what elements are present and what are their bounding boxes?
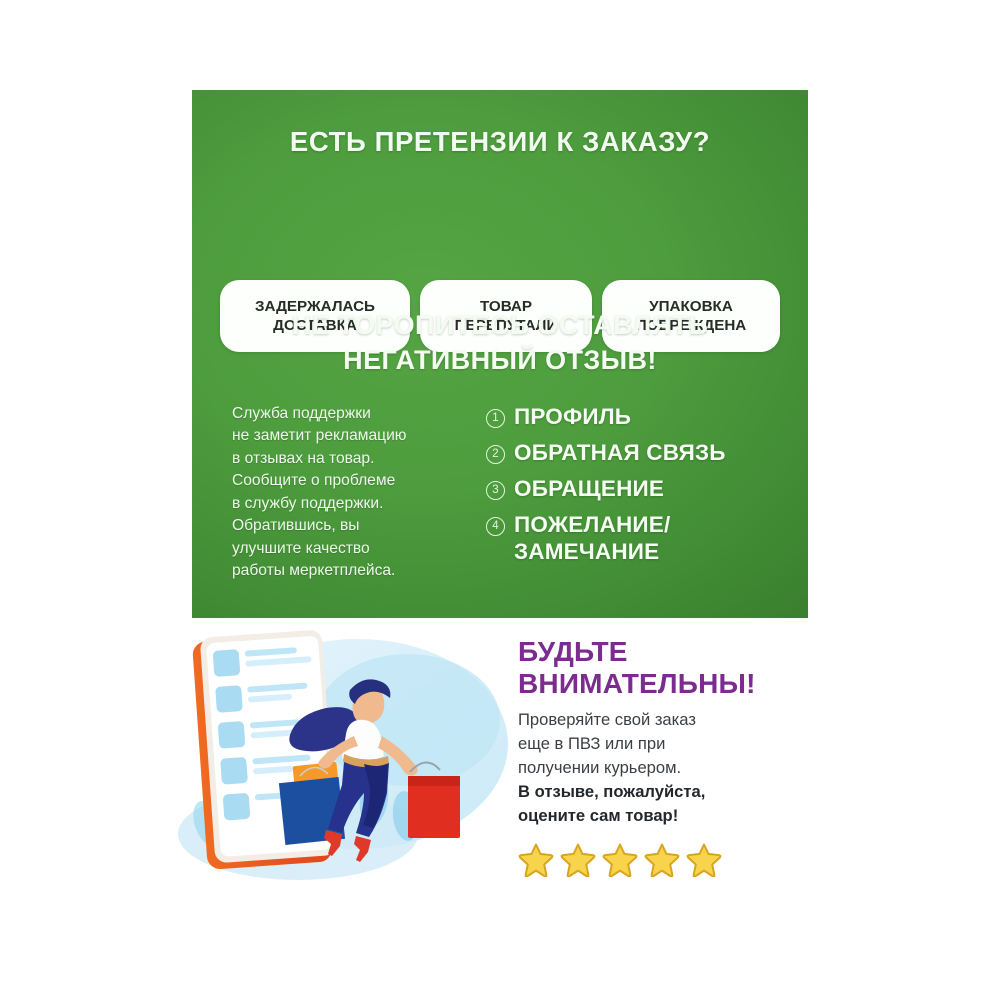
step-label-profile: ПРОФИЛЬ [514, 404, 631, 431]
attention-title: БУДЬТЕ ВНИМАТЕЛЬНЫ! [518, 636, 818, 699]
claims-green-panel: ЕСТЬ ПРЕТЕНЗИИ К ЗАКАЗУ? ЗАДЕРЖАЛАСЬ ДОС… [192, 90, 808, 618]
star-icon-1[interactable] [518, 841, 554, 877]
star-icon-3[interactable] [602, 841, 638, 877]
attention-body-line2: еще в ПВЗ или при [518, 732, 818, 756]
poster-canvas: ЕСТЬ ПРЕТЕНЗИИ К ЗАКАЗУ? ЗАДЕРЖАЛАСЬ ДОС… [0, 0, 1000, 1000]
support-paragraph-line8: работы меркетплейса. [232, 560, 467, 582]
attention-block: БУДЬТЕ ВНИМАТЕЛЬНЫ! Проверяйте свой зака… [518, 636, 818, 877]
support-paragraph-line3: в отзывах на товар. [232, 448, 467, 470]
attention-body-line1: Проверяйте свой заказ [518, 708, 818, 732]
step-label-profile-line1: ПРОФИЛЬ [514, 404, 631, 431]
steps-list: 1 ПРОФИЛЬ 2 ОБРАТНАЯ СВЯЗЬ 3 ОБРАЩЕНИЕ [486, 403, 726, 575]
step-item-feedback: 2 ОБРАТНАЯ СВЯЗЬ [486, 440, 726, 467]
support-paragraph: Служба поддержки не заметит рекламацию в… [232, 403, 467, 583]
panel-subheading: НЕ ТОРОПИТЕСЬ ОСТАВЛЯТЬ НЕГАТИВНЫЙ ОТЗЫВ… [192, 308, 808, 377]
support-paragraph-line2: не заметит рекламацию [232, 425, 467, 447]
woman-shopping-with-phone-illustration [178, 624, 518, 892]
step-label-request: ОБРАЩЕНИЕ [514, 476, 664, 503]
star-rating[interactable] [518, 841, 818, 877]
bottom-section: БУДЬТЕ ВНИМАТЕЛЬНЫ! Проверяйте свой зака… [0, 624, 1000, 904]
step-number-2-icon: 2 [486, 445, 505, 464]
step-label-suggestion-line2: ЗАМЕЧАНИЕ [514, 539, 670, 566]
step-number-4-icon: 4 [486, 517, 505, 536]
step-label-suggestion: ПОЖЕЛАНИЕ/ ЗАМЕЧАНИЕ [514, 512, 670, 565]
support-paragraph-line4: Сообщите о проблеме [232, 470, 467, 492]
attention-body-line4: В отзыве, пожалуйста, [518, 780, 818, 804]
star-icon-4[interactable] [644, 841, 680, 877]
support-paragraph-line5: в службу поддержки. [232, 493, 467, 515]
panel-title: ЕСТЬ ПРЕТЕНЗИИ К ЗАКАЗУ? [192, 126, 808, 158]
support-paragraph-line6: Обратившись, вы [232, 515, 467, 537]
step-label-feedback-line1: ОБРАТНАЯ СВЯЗЬ [514, 440, 726, 467]
step-label-feedback: ОБРАТНАЯ СВЯЗЬ [514, 440, 726, 467]
attention-body-line5: оцените сам товар! [518, 804, 818, 828]
panel-subheading-line1: НЕ ТОРОПИТЕСЬ ОСТАВЛЯТЬ [192, 308, 808, 343]
step-label-suggestion-line1: ПОЖЕЛАНИЕ/ [514, 512, 670, 539]
star-icon-5[interactable] [686, 841, 722, 877]
star-icon-2[interactable] [560, 841, 596, 877]
step-item-profile: 1 ПРОФИЛЬ [486, 404, 726, 431]
step-number-1-icon: 1 [486, 409, 505, 428]
attention-body: Проверяйте свой заказ еще в ПВЗ или при … [518, 708, 818, 827]
step-item-suggestion: 4 ПОЖЕЛАНИЕ/ ЗАМЕЧАНИЕ [486, 512, 726, 565]
step-label-request-line1: ОБРАЩЕНИЕ [514, 476, 664, 503]
step-item-request: 3 ОБРАЩЕНИЕ [486, 476, 726, 503]
support-paragraph-line7: улучшите качество [232, 538, 467, 560]
step-number-3-icon: 3 [486, 481, 505, 500]
attention-title-line2: ВНИМАТЕЛЬНЫ! [518, 668, 818, 700]
support-paragraph-line1: Служба поддержки [232, 403, 467, 425]
attention-title-line1: БУДЬТЕ [518, 636, 818, 668]
attention-body-line3: получении курьером. [518, 756, 818, 780]
panel-lower-columns: Служба поддержки не заметит рекламацию в… [232, 403, 792, 583]
panel-subheading-line2: НЕГАТИВНЫЙ ОТЗЫВ! [192, 343, 808, 378]
